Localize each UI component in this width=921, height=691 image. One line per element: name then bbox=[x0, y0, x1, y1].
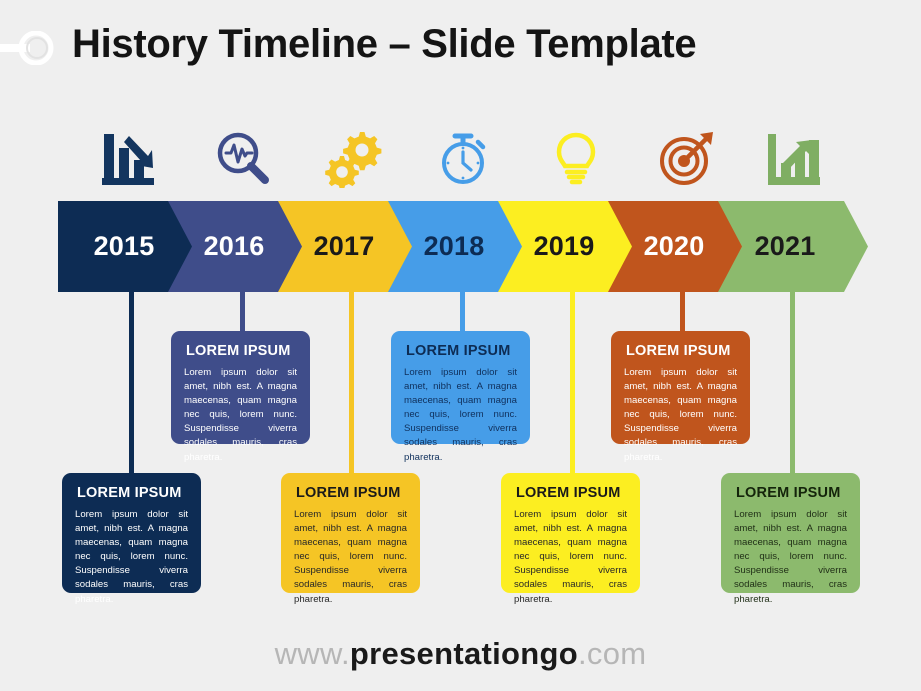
card-body-2015: Lorem ipsum dolor sit amet, nibh est. A … bbox=[75, 508, 188, 607]
card-body-2021: Lorem ipsum dolor sit amet, nibh est. A … bbox=[734, 508, 847, 607]
connector-2020 bbox=[680, 292, 685, 332]
milestone-card-2017[interactable]: LOREM IPSUM Lorem ipsum dolor sit amet, … bbox=[281, 473, 420, 593]
slide-canvas: History Timeline – Slide Template bbox=[0, 0, 921, 691]
target-arrow-icon bbox=[657, 130, 717, 188]
icons-row bbox=[58, 124, 868, 194]
footer-brand: presentationgo bbox=[350, 636, 578, 671]
icon-cell-2020 bbox=[652, 124, 722, 194]
connector-2016 bbox=[240, 292, 245, 332]
page-title: History Timeline – Slide Template bbox=[72, 22, 696, 67]
year-label-2015: 2015 bbox=[58, 231, 206, 262]
timeline-band: 2015 2016 2017 2018 2019 2020 2021 bbox=[58, 201, 868, 292]
connector-2021 bbox=[790, 292, 795, 474]
card-title-2020: LOREM IPSUM bbox=[626, 343, 737, 359]
milestone-card-2018[interactable]: LOREM IPSUM Lorem ipsum dolor sit amet, … bbox=[391, 331, 530, 444]
magnifier-pulse-icon bbox=[213, 130, 273, 188]
icon-cell-2021 bbox=[763, 124, 833, 194]
icon-cell-2015 bbox=[97, 124, 167, 194]
footer-url: www.presentationgo.com bbox=[0, 636, 921, 672]
growth-bar-chart-icon bbox=[768, 130, 828, 188]
card-body-2020: Lorem ipsum dolor sit amet, nibh est. A … bbox=[624, 366, 737, 465]
title-row: History Timeline – Slide Template bbox=[0, 10, 921, 72]
footer-prefix: www. bbox=[275, 636, 350, 671]
stopwatch-icon bbox=[435, 130, 495, 188]
milestone-card-2021[interactable]: LOREM IPSUM Lorem ipsum dolor sit amet, … bbox=[721, 473, 860, 593]
declining-bar-chart-icon bbox=[102, 130, 162, 188]
card-body-2019: Lorem ipsum dolor sit amet, nibh est. A … bbox=[514, 508, 627, 607]
lightbulb-icon bbox=[546, 130, 606, 188]
icon-cell-2017 bbox=[319, 124, 389, 194]
card-title-2017: LOREM IPSUM bbox=[296, 485, 407, 501]
connector-2017 bbox=[349, 292, 354, 474]
icon-cell-2018 bbox=[430, 124, 500, 194]
card-body-2018: Lorem ipsum dolor sit amet, nibh est. A … bbox=[404, 366, 517, 465]
card-body-2016: Lorem ipsum dolor sit amet, nibh est. A … bbox=[184, 366, 297, 465]
card-body-2017: Lorem ipsum dolor sit amet, nibh est. A … bbox=[294, 508, 407, 607]
connector-2015 bbox=[129, 292, 134, 474]
card-title-2016: LOREM IPSUM bbox=[186, 343, 297, 359]
gears-icon bbox=[324, 130, 384, 188]
icon-cell-2016 bbox=[208, 124, 278, 194]
card-title-2021: LOREM IPSUM bbox=[736, 485, 847, 501]
connector-2019 bbox=[570, 292, 575, 474]
card-title-2018: LOREM IPSUM bbox=[406, 343, 517, 359]
card-title-2015: LOREM IPSUM bbox=[77, 485, 188, 501]
milestone-card-2015[interactable]: LOREM IPSUM Lorem ipsum dolor sit amet, … bbox=[62, 473, 201, 593]
footer-suffix: .com bbox=[578, 636, 646, 671]
ring-ornament-icon bbox=[0, 31, 62, 65]
connector-2018 bbox=[460, 292, 465, 332]
milestone-card-2016[interactable]: LOREM IPSUM Lorem ipsum dolor sit amet, … bbox=[171, 331, 310, 444]
icon-cell-2019 bbox=[541, 124, 611, 194]
milestone-card-2019[interactable]: LOREM IPSUM Lorem ipsum dolor sit amet, … bbox=[501, 473, 640, 593]
milestone-card-2020[interactable]: LOREM IPSUM Lorem ipsum dolor sit amet, … bbox=[611, 331, 750, 444]
card-title-2019: LOREM IPSUM bbox=[516, 485, 627, 501]
